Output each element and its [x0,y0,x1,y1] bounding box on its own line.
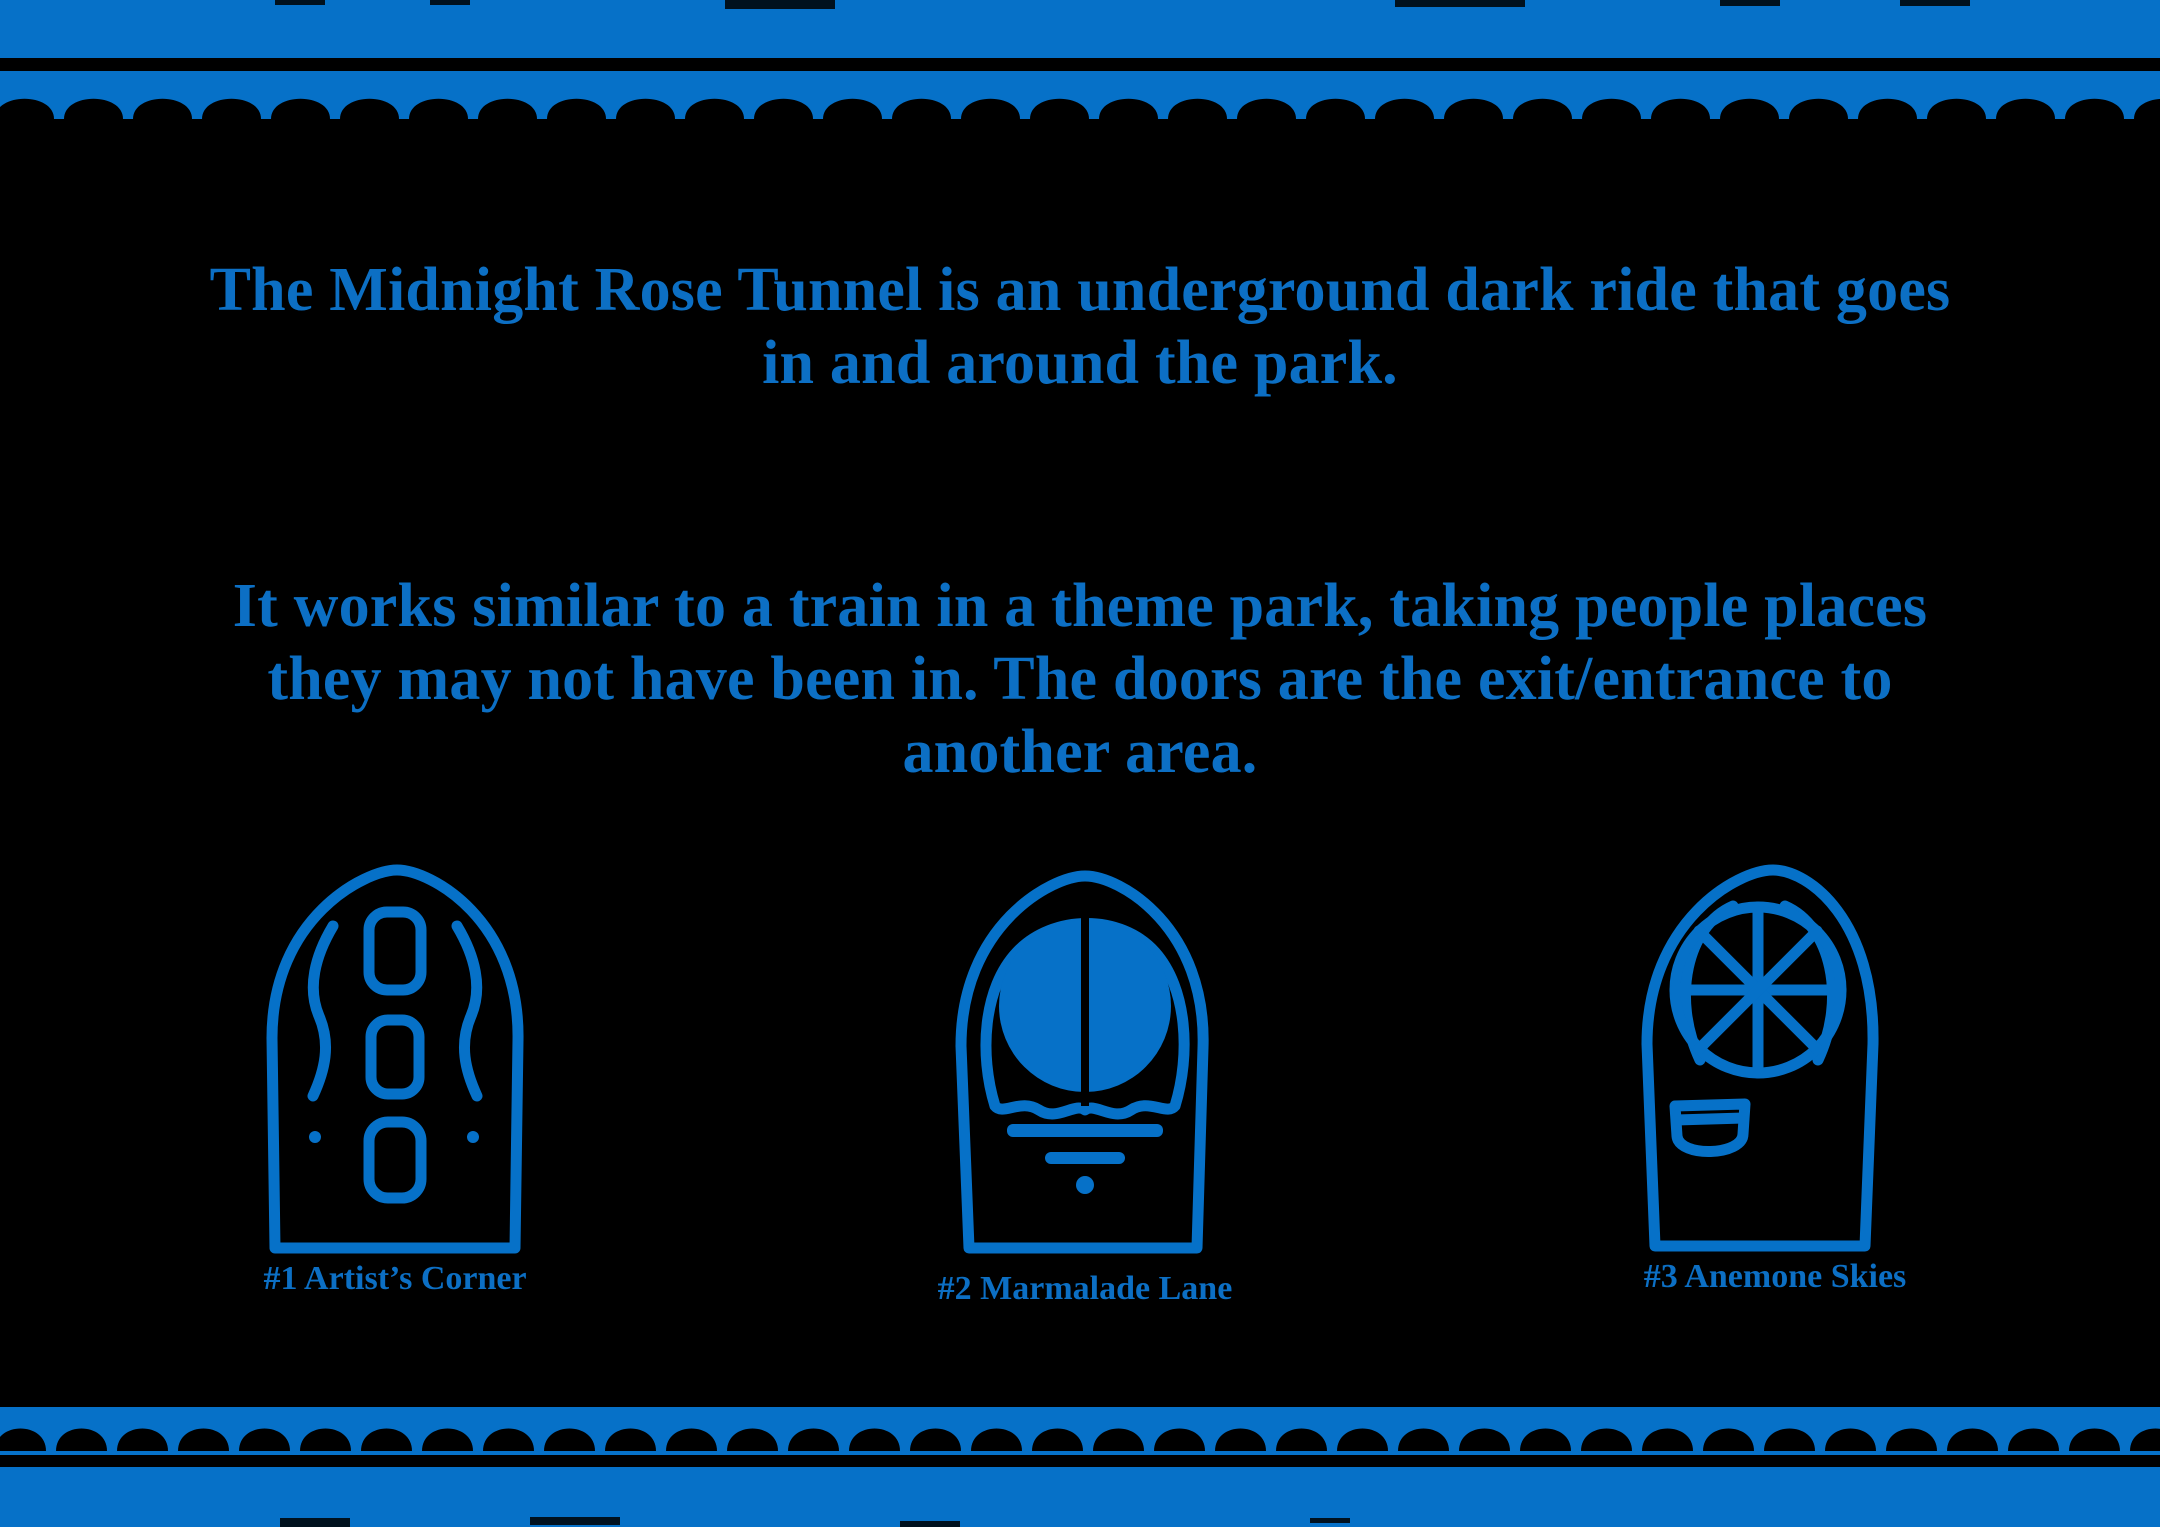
bottom-stray-mark [900,1521,960,1527]
door-three-windows-icon [245,848,545,1258]
bottom-scalloped-border [0,1407,2160,1455]
top-stray-mark [1395,0,1525,7]
bottom-stray-mark [530,1517,620,1525]
door-caption-1: #1 Artist’s Corner [185,1260,605,1298]
bottom-stray-mark [280,1518,350,1527]
top-stray-mark [725,0,835,9]
door-split-circle-icon [935,848,1235,1258]
top-stray-mark [275,0,325,5]
top-stray-mark [1720,0,1780,6]
door-caption-2: #2 Marmalade Lane [875,1270,1295,1308]
top-edge-bar [0,0,2160,58]
door-item-3[interactable]: #3 Anemone Skies [1565,848,1985,1296]
top-stray-mark [430,0,470,5]
door-gallery: #1 Artist’s Corner [0,848,2160,1328]
door-item-1[interactable]: #1 Artist’s Corner [185,848,605,1298]
door-caption-3: #3 Anemone Skies [1565,1258,1985,1296]
paragraph-one: The Midnight Rose Tunnel is an undergrou… [200,254,1960,400]
door-item-2[interactable]: #2 Marmalade Lane [875,848,1295,1308]
paragraph-two: It works similar to a train in a theme p… [200,570,1960,789]
bottom-stray-mark [1310,1518,1350,1523]
slide-canvas: The Midnight Rose Tunnel is an undergrou… [0,0,2160,1527]
top-scalloped-border [0,71,2160,119]
top-stray-mark [1900,0,1970,6]
door-wagon-wheel-icon [1625,848,1925,1258]
